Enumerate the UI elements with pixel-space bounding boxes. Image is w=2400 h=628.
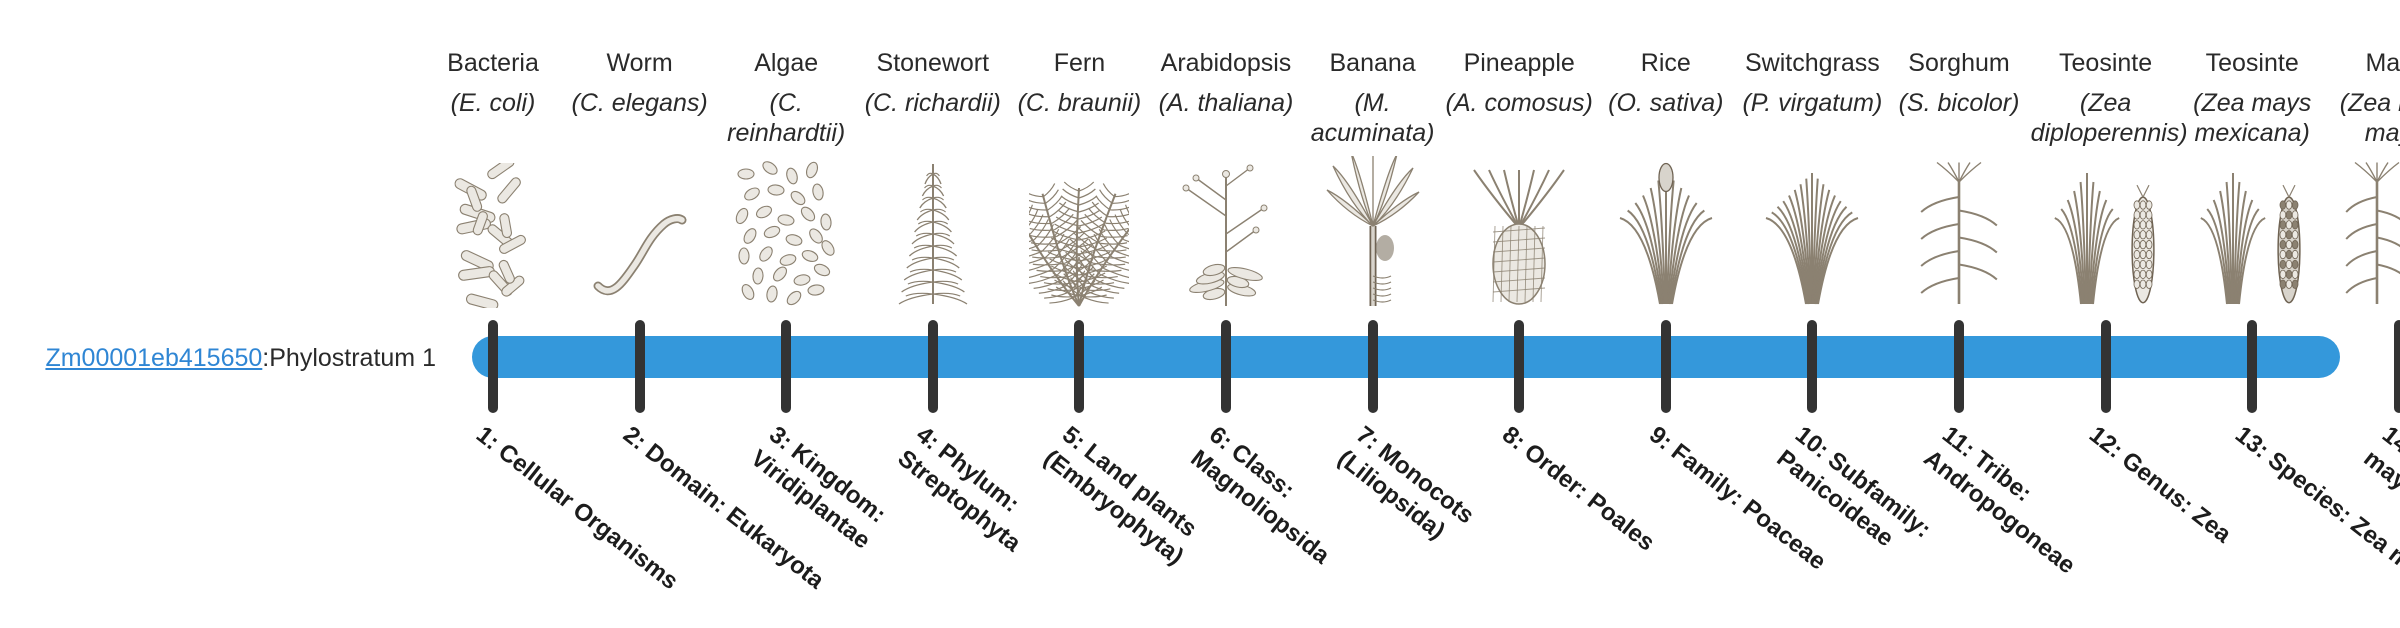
species-scientific-name: (P. virgatum) [1737,88,1887,118]
arabidopsis-plant-illustration [1151,168,1301,308]
species-scientific-name: (A. thaliana) [1151,88,1301,118]
phylostratum-value: Phylostratum 1 [269,344,436,373]
species-common-name: Worm [565,48,715,78]
tick-mark-2 [635,320,645,413]
tick-mark-6 [1221,320,1231,413]
species-common-name: Maize [2324,48,2400,78]
species-common-name: Arabidopsis [1151,48,1301,78]
species-column-bacteria-1: Bacteria(E. coli) [418,48,568,118]
species-column-pineapple-8: Pineapple(A. comosus) [1444,48,1594,118]
species-common-name: Bacteria [418,48,568,78]
tick-mark-5 [1074,320,1084,413]
species-column-worm-2: Worm(C. elegans) [565,48,715,118]
species-column-fern-5: Fern(C. braunii) [1004,48,1154,118]
species-column-sorghum-11: Sorghum(S. bicolor) [1884,48,2034,118]
algae-cells-illustration [711,168,861,308]
gene-id-link[interactable]: Zm00001eb415650 [45,344,262,373]
teosinte-plant-and-ear-illustration [2031,168,2181,308]
species-scientific-name: (E. coli) [418,88,568,118]
row-label: Zm00001eb415650: Phylostratum 1 [0,337,450,379]
tick-mark-11 [1954,320,1964,413]
species-common-name: Teosinte [2177,48,2327,78]
tick-mark-8 [1514,320,1524,413]
species-scientific-name: (S. bicolor) [1884,88,2034,118]
nematode-worm-illustration [565,168,715,308]
species-scientific-name: (O. sativa) [1591,88,1741,118]
species-column-switchgrass-10: Switchgrass(P. virgatum) [1737,48,1887,118]
species-scientific-name: (C. braunii) [1004,88,1154,118]
tick-mark-14 [2394,320,2400,413]
row-label-separator: : [262,344,269,373]
species-common-name: Fern [1004,48,1154,78]
stonewort-illustration [858,168,1008,308]
species-common-name: Banana [1298,48,1448,78]
species-scientific-name: (Zea mays mays) [2324,88,2400,148]
tick-mark-3 [781,320,791,413]
species-common-name: Rice [1591,48,1741,78]
species-scientific-name: (Zea mays mexicana) [2177,88,2327,148]
tick-mark-7 [1368,320,1378,413]
species-common-name: Stonewort [858,48,1008,78]
species-scientific-name: (C. richardii) [858,88,1008,118]
species-column-teosinte-12: Teosinte(Zea diploperennis) [2031,48,2181,148]
species-column-stonewort-4: Stonewort(C. richardii) [858,48,1008,118]
species-common-name: Algae [711,48,861,78]
species-scientific-name: (Zea diploperennis) [2031,88,2181,148]
tick-mark-9 [1661,320,1671,413]
species-column-rice-9: Rice(O. sativa) [1591,48,1741,118]
species-common-name: Pineapple [1444,48,1594,78]
species-column-teosinte-13: Teosinte(Zea mays mexicana) [2177,48,2327,148]
species-column-banana-7: Banana(M. acuminata) [1298,48,1448,148]
tick-mark-13 [2247,320,2257,413]
fern-frond-illustration [1004,168,1154,308]
banana-plant-illustration [1298,168,1448,308]
tick-mark-1 [488,320,498,413]
rice-plant-illustration [1591,168,1741,308]
sorghum-plant-illustration [1884,168,2034,308]
tick-mark-4 [928,320,938,413]
species-column-maize-14: Maize(Zea mays mays) [2324,48,2400,148]
species-scientific-name: (C. elegans) [565,88,715,118]
teosinte-mexicana-plant-and-ear-illustration [2177,168,2327,308]
maize-plant-and-ear-illustration [2324,168,2400,308]
species-scientific-name: (C. reinhardtii) [711,88,861,148]
tick-mark-10 [1807,320,1817,413]
tick-mark-12 [2101,320,2111,413]
pineapple-illustration [1444,168,1594,308]
species-common-name: Switchgrass [1737,48,1887,78]
species-common-name: Teosinte [2031,48,2181,78]
bacteria-illustration [418,168,568,308]
phylostratum-figure: Zm00001eb415650: Phylostratum 1 Bacteria… [0,0,2400,580]
species-column-arabidopsis-6: Arabidopsis(A. thaliana) [1151,48,1301,118]
species-common-name: Sorghum [1884,48,2034,78]
species-scientific-name: (M. acuminata) [1298,88,1448,148]
phylostratum-timeline-bar [472,336,2340,378]
switchgrass-illustration [1737,168,1887,308]
species-scientific-name: (A. comosus) [1444,88,1594,118]
species-column-algae-3: Algae(C. reinhardtii) [711,48,861,148]
